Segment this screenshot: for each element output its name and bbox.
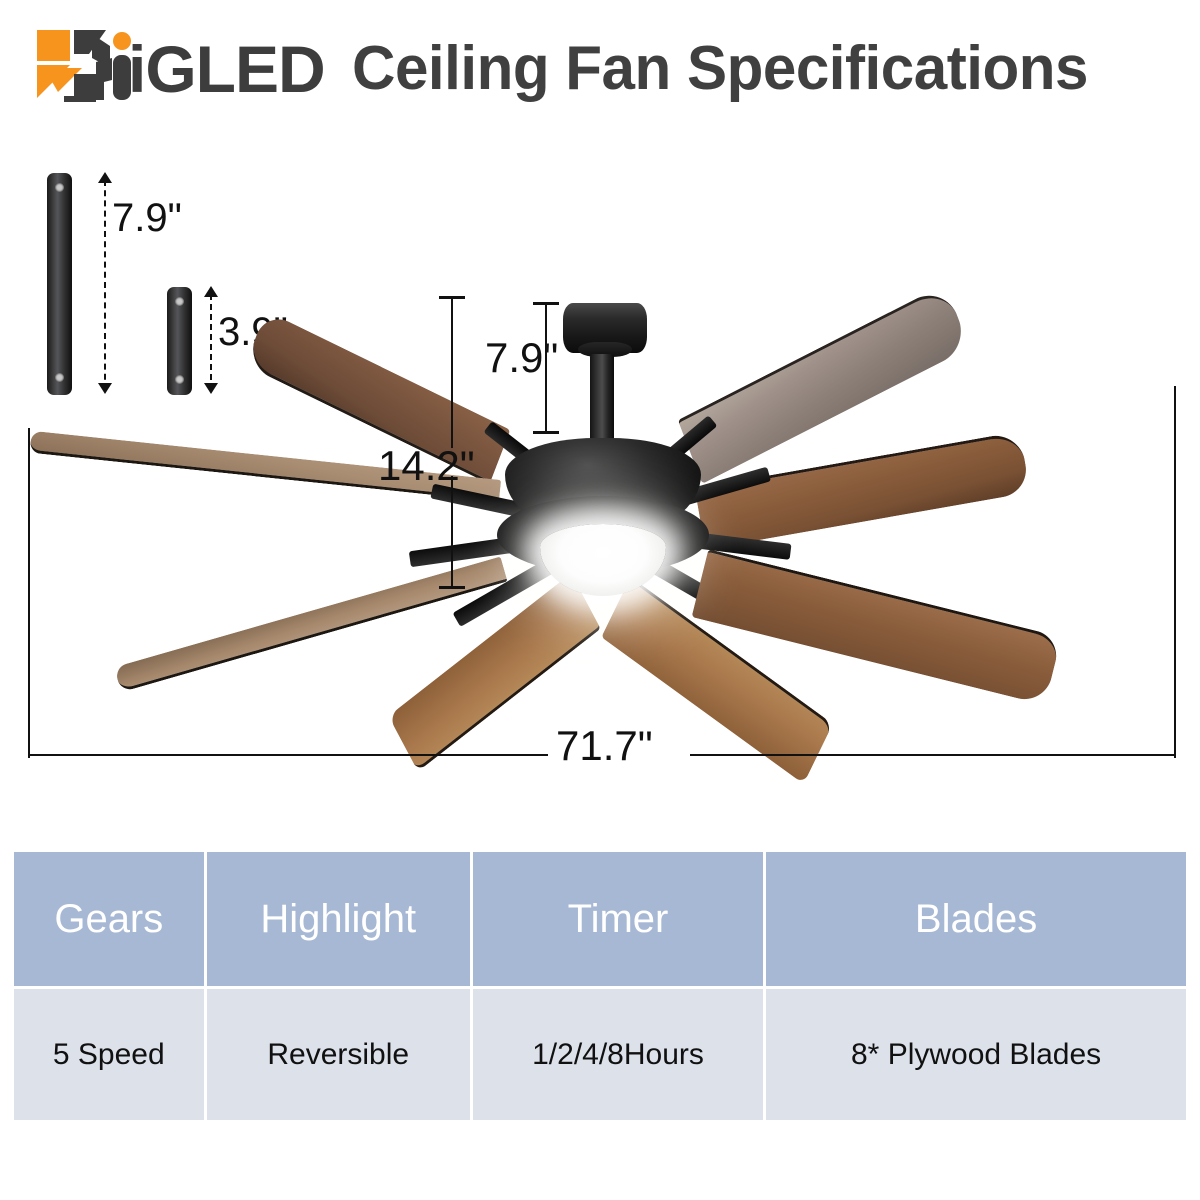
table-cell-timer: 1/2/4/8Hours xyxy=(473,986,766,1120)
brand-name: iGLED xyxy=(128,34,325,104)
dimension-label-fan-span: 71.7" xyxy=(556,722,653,770)
page-header: iGLED Ceiling Fan Specifications xyxy=(0,0,1200,128)
table-header-timer: Timer xyxy=(473,852,766,986)
table-row: 5 Speed Reversible 1/2/4/8Hours 8* Plywo… xyxy=(14,986,1186,1120)
aperture-shutter-icon xyxy=(34,28,132,106)
dimension-label-fan-drop: 7.9" xyxy=(485,334,558,382)
table-header-gears: Gears xyxy=(14,852,207,986)
table-cell-gears: 5 Speed xyxy=(14,986,207,1120)
specification-table: Gears Highlight Timer Blades 5 Speed Rev… xyxy=(14,852,1186,1120)
table-header-highlight: Highlight xyxy=(207,852,473,986)
table-header-row: Gears Highlight Timer Blades xyxy=(14,852,1186,986)
product-spec-page: iGLED Ceiling Fan Specifications 7.9" 3.… xyxy=(0,0,1200,1200)
page-title: Ceiling Fan Specifications xyxy=(352,34,1088,104)
fan-dimension-diagram: 7.9" 3.9" xyxy=(0,128,1200,828)
table-header-blades: Blades xyxy=(766,852,1186,986)
dimension-label-fan-height: 14.2" xyxy=(378,442,475,490)
table-cell-blades: 8* Plywood Blades xyxy=(766,986,1186,1120)
table-cell-highlight: Reversible xyxy=(207,986,473,1120)
installed-downrod xyxy=(590,354,614,444)
